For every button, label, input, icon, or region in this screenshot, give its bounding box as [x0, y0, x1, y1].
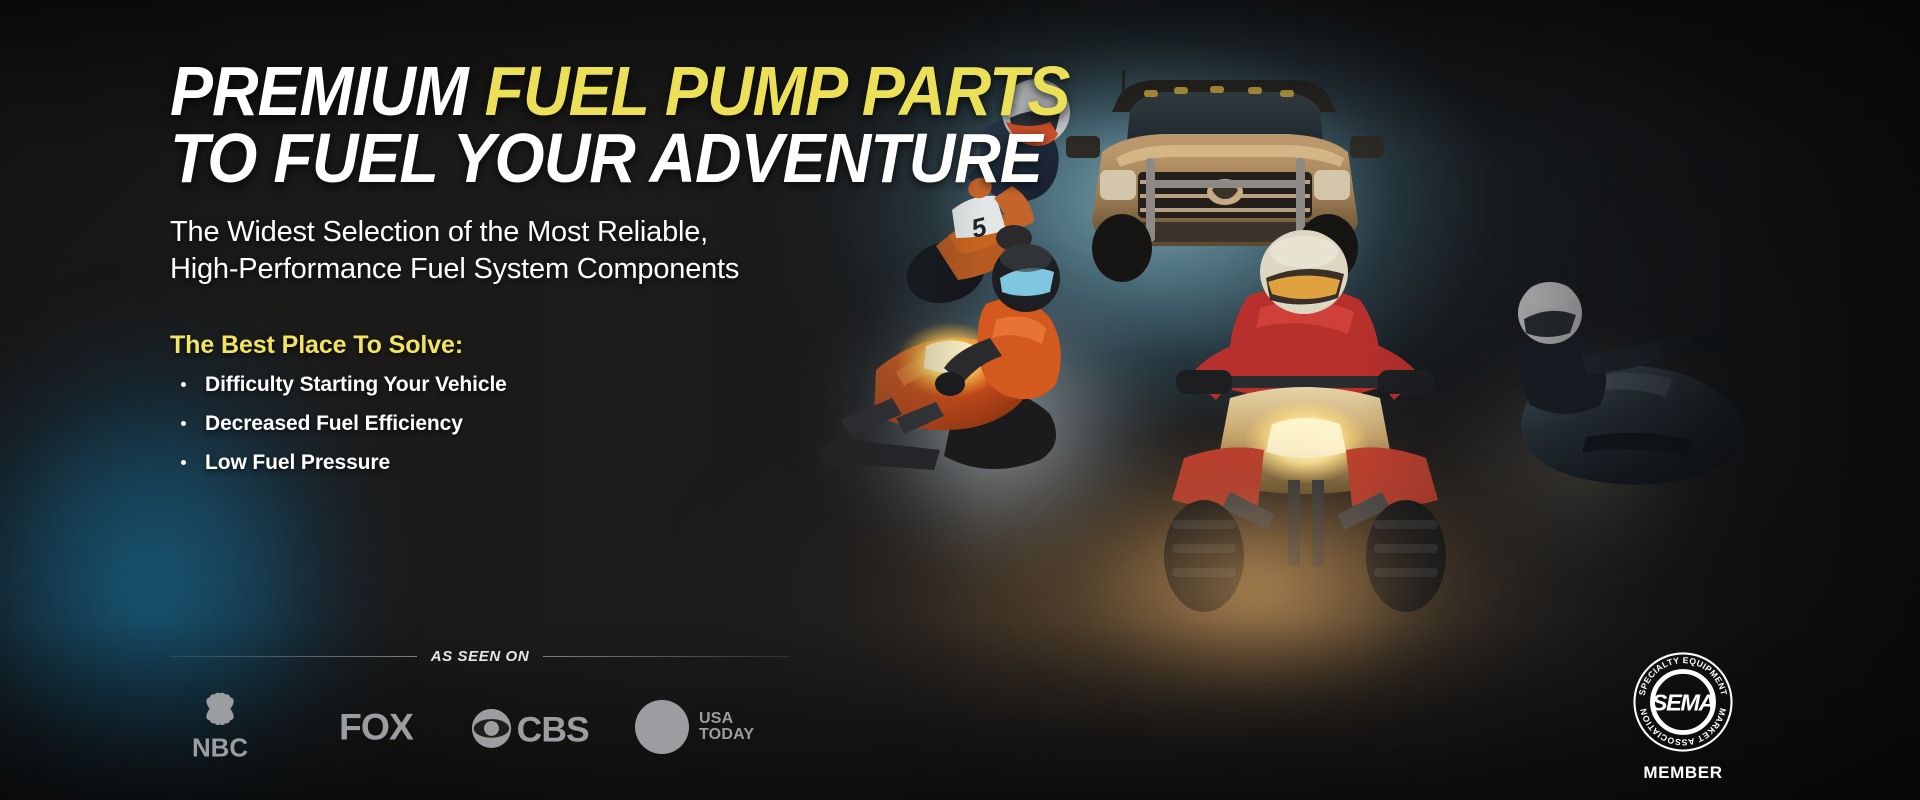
- list-item-label: Difficulty Starting Your Vehicle: [205, 373, 507, 396]
- list-item-label: Decreased Fuel Efficiency: [205, 412, 463, 435]
- nbc-logo: NBC: [180, 689, 320, 765]
- bullet-dot-icon: [181, 460, 186, 465]
- svg-text:NBC: NBC: [192, 734, 248, 762]
- divider-rule-right: [543, 656, 790, 657]
- headline-line-1: PREMIUM FUEL PUMP PARTS: [170, 58, 943, 125]
- usa-today-logo: USA TODAY: [635, 700, 795, 754]
- sema-seal-icon: SPECIALTY EQUIPMENT MARKET ASSOCIATION S…: [1631, 650, 1735, 754]
- sema-monogram: SEMA: [1652, 689, 1715, 715]
- list-item: Low Fuel Pressure: [178, 452, 1010, 473]
- usa-today-circle-icon: [635, 700, 689, 754]
- hero-banner: 5: [0, 0, 1920, 800]
- list-item-label: Low Fuel Pressure: [205, 451, 390, 474]
- bullet-dot-icon: [181, 421, 186, 426]
- fox-logo: FOX: [320, 706, 470, 749]
- usa-today-line-2: TODAY: [699, 727, 754, 743]
- press-logo-row: NBC FOX CBS: [170, 689, 810, 765]
- usa-today-line-1: USA: [699, 711, 754, 727]
- as-seen-on-label: AS SEEN ON: [431, 648, 530, 665]
- cbs-logo: CBS: [470, 706, 635, 749]
- headline-line-2: TO FUEL YOUR ADVENTURE: [170, 125, 943, 192]
- bullet-dot-icon: [181, 382, 186, 387]
- subheadline-line-1: The Widest Selection of the Most Reliabl…: [170, 214, 1010, 251]
- sema-member-label: MEMBER: [1608, 763, 1758, 783]
- as-seen-on-header: AS SEEN ON: [170, 648, 790, 665]
- sema-member-badge: SPECIALTY EQUIPMENT MARKET ASSOCIATION S…: [1608, 650, 1758, 783]
- list-item: Difficulty Starting Your Vehicle: [178, 374, 1010, 395]
- svg-text:FOX: FOX: [339, 706, 414, 748]
- solve-section-title: The Best Place To Solve:: [170, 287, 1010, 360]
- page-title: PREMIUM FUEL PUMP PARTS TO FUEL YOUR ADV…: [170, 0, 943, 192]
- subheadline-line-2: High-Performance Fuel System Components: [170, 251, 1010, 288]
- subheadline: The Widest Selection of the Most Reliabl…: [170, 192, 1010, 287]
- solve-benefit-list: Difficulty Starting Your Vehicle Decreas…: [170, 360, 1010, 473]
- svg-text:CBS: CBS: [517, 709, 589, 749]
- as-seen-on-section: AS SEEN ON NBC: [170, 648, 810, 765]
- list-item: Decreased Fuel Efficiency: [178, 413, 1010, 434]
- divider-rule-left: [170, 656, 417, 657]
